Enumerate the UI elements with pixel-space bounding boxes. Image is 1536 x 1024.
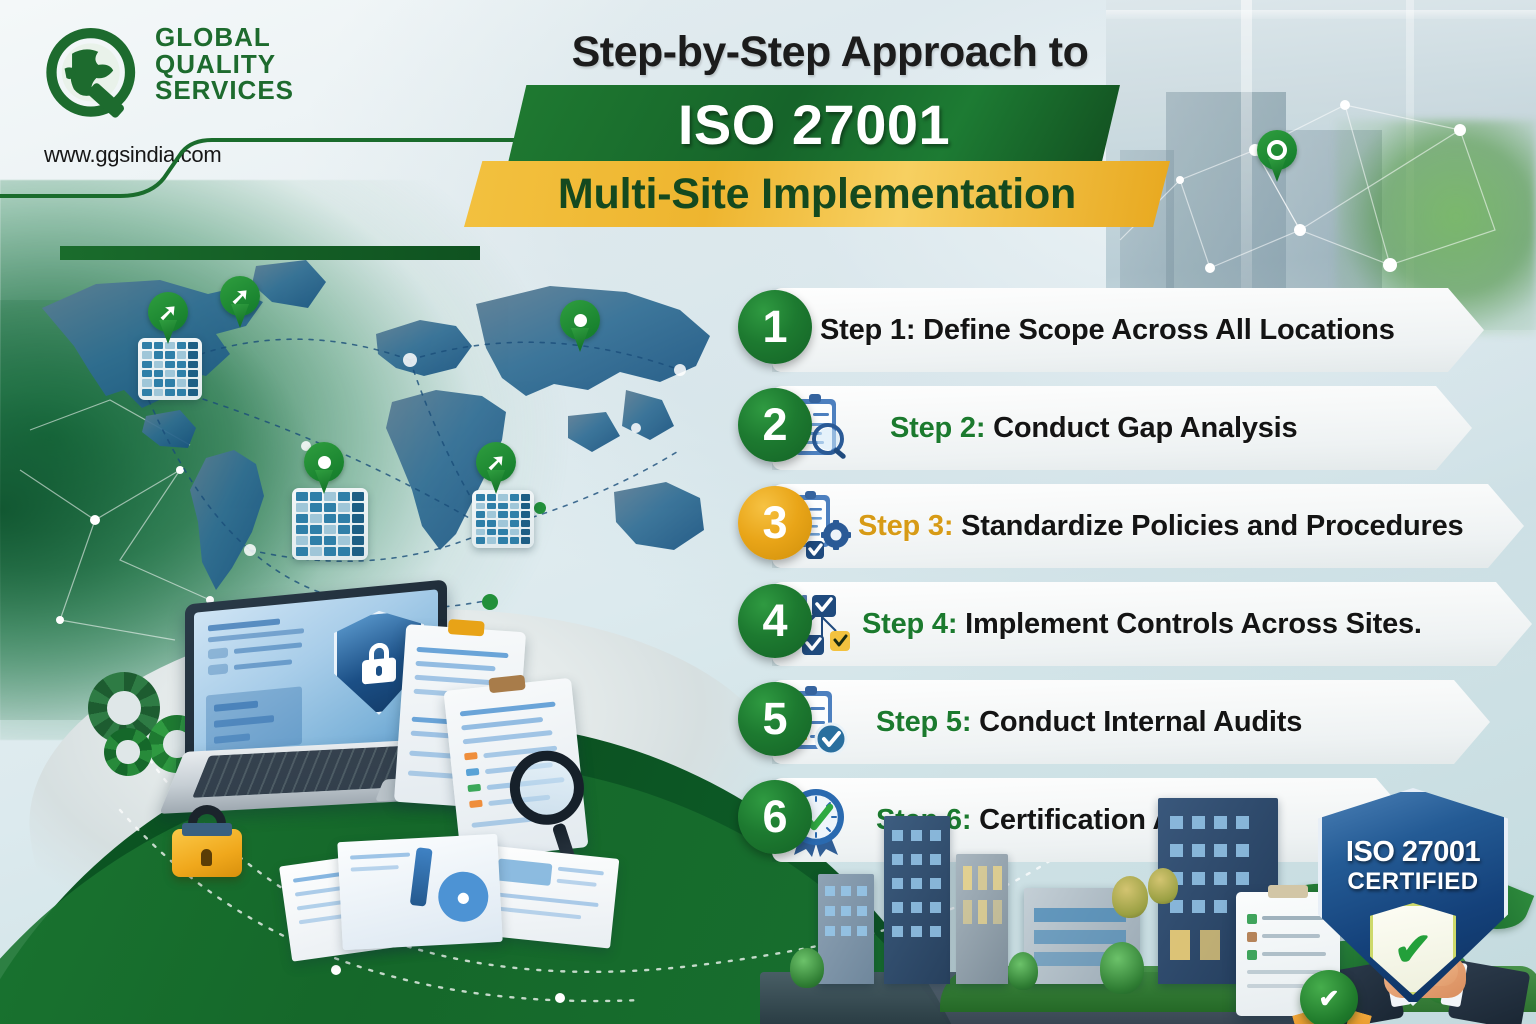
step-prefix: Step 3: <box>858 510 953 542</box>
title-eyebrow: Step-by-Step Approach to <box>470 28 1190 77</box>
step-prefix: Step 5: <box>876 706 971 738</box>
location-pin-icon: ➚ <box>476 442 516 494</box>
subtitle-text: Multi-Site Implementation <box>558 170 1076 219</box>
banner-accent-tab <box>60 246 480 260</box>
step-label: Step 4: Implement Controls Across Sites. <box>862 608 1422 641</box>
step-bar[interactable]: Step 3: Standardize Policies and Procedu… <box>772 484 1524 568</box>
world-map: ➚ ➚ ➚ <box>20 250 740 610</box>
step-prefix: Step 2: <box>890 412 985 444</box>
title-block: Step-by-Step Approach to ISO 27001 Multi… <box>470 28 1190 227</box>
step-text: Standardize Policies and Procedures <box>953 510 1463 542</box>
step-number-badge[interactable]: 1 <box>738 290 812 364</box>
tree <box>1100 942 1144 994</box>
tree <box>1008 952 1038 990</box>
office-building-pin-icon <box>292 488 368 560</box>
certified-seal-icon: ✔ <box>1300 970 1358 1024</box>
step-text: Implement Controls Across Sites. <box>957 608 1422 640</box>
infographic-canvas: ➚ ➚ ➚ GL <box>0 0 1536 1024</box>
iso-standard-banner: ISO 27001 <box>508 85 1120 163</box>
office-building-pin-icon <box>138 338 202 400</box>
location-pin-icon <box>304 442 344 494</box>
step-label: Step 2: Conduct Gap Analysis <box>890 412 1297 445</box>
location-pin-icon <box>1257 130 1297 182</box>
check-icon: ✔ <box>1394 926 1433 972</box>
step-number-badge[interactable]: 6 <box>738 780 812 854</box>
office-building-pin-icon <box>472 490 534 548</box>
step-row[interactable]: Step 2: Conduct Gap Analysis 2 <box>738 380 1518 476</box>
subtitle-banner: Multi-Site Implementation <box>464 161 1170 227</box>
step-text: Conduct Gap Analysis <box>985 412 1297 444</box>
step-number-badge[interactable]: 5 <box>738 682 812 756</box>
office-building <box>818 874 874 984</box>
step-number-badge[interactable]: 3 <box>738 486 812 560</box>
step-number-badge[interactable]: 4 <box>738 584 812 658</box>
step-text: Define Scope Across All Locations <box>915 314 1394 346</box>
step-row[interactable]: Step 3: Standardize Policies and Procedu… <box>738 478 1518 574</box>
notebook-page: ● <box>337 834 502 950</box>
iso-standard-text: ISO 27001 <box>678 92 950 157</box>
tree <box>1148 868 1178 904</box>
location-pin-icon: ➚ <box>220 276 260 328</box>
step-bar[interactable]: Step 5: Conduct Internal Audits <box>772 680 1490 764</box>
seal-check-glyph: ✔ <box>1319 984 1340 1014</box>
step-row[interactable]: Step 1: Define Scope Across All Location… <box>738 282 1518 378</box>
step-bar[interactable]: Step 4: Implement Controls Across Sites. <box>772 582 1532 666</box>
gears-icon <box>104 728 152 776</box>
iso-badge-line1: ISO 27001 <box>1318 836 1508 869</box>
step-label: Step 1: Define Scope Across All Location… <box>820 314 1395 347</box>
iso-badge-inner-shield: ✔ <box>1370 903 1456 995</box>
step-prefix: Step 1: <box>820 314 915 346</box>
office-building <box>956 854 1008 984</box>
step-bar[interactable]: Step 2: Conduct Gap Analysis <box>772 386 1472 470</box>
step-number-badge[interactable]: 2 <box>738 388 812 462</box>
step-bar[interactable]: Step 1: Define Scope Across All Location… <box>772 288 1484 372</box>
step-row[interactable]: Step 4: Implement Controls Across Sites.… <box>738 576 1518 672</box>
step-label: Step 5: Conduct Internal Audits <box>876 706 1302 739</box>
location-pin-icon: ➚ <box>148 292 188 344</box>
step-label: Step 3: Standardize Policies and Procedu… <box>858 510 1463 543</box>
tree <box>1112 876 1148 918</box>
location-pin-icon <box>560 300 600 352</box>
iso-certified-badge[interactable]: ISO 27001 CERTIFIED ✔ <box>1318 788 1508 1006</box>
iso-badge-line2: CERTIFIED <box>1318 868 1508 896</box>
step-prefix: Step 4: <box>862 608 957 640</box>
office-building <box>884 816 950 984</box>
step-text: Conduct Internal Audits <box>971 706 1302 738</box>
tree <box>790 948 824 988</box>
padlock-icon <box>172 805 242 877</box>
step-row[interactable]: Step 5: Conduct Internal Audits 5 <box>738 674 1518 770</box>
